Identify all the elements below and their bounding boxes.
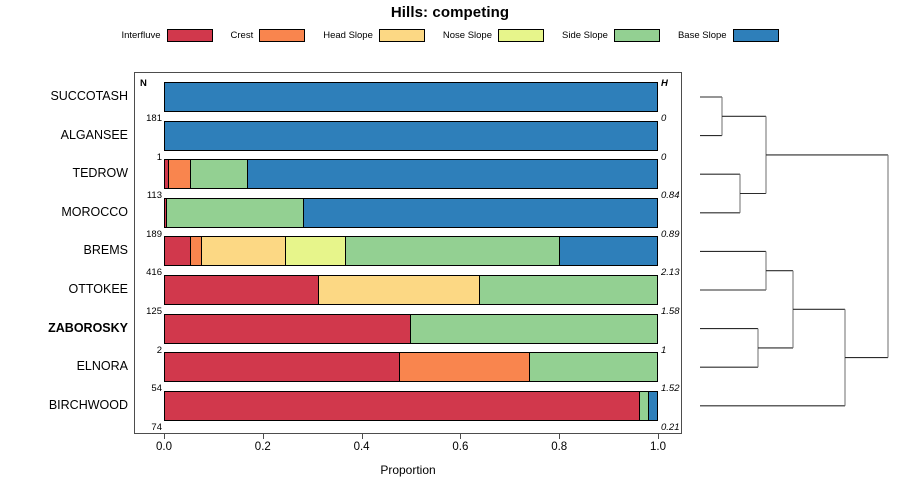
h-value: 0.84 — [661, 190, 691, 201]
stacked-bar — [164, 391, 658, 421]
stacked-bar-track — [164, 82, 658, 112]
legend-label: Interfluve — [121, 30, 160, 41]
n-value: 1 — [136, 152, 162, 163]
stacked-bar-track — [164, 314, 658, 344]
bar-segment — [165, 315, 411, 343]
stacked-bar — [164, 352, 658, 382]
y-axis-label: BREMS — [0, 244, 128, 257]
legend-swatch — [614, 29, 660, 42]
legend-item: Interfluve — [121, 29, 212, 42]
legend-swatch — [498, 29, 544, 42]
legend-label: Side Slope — [562, 30, 608, 41]
n-value: 416 — [136, 267, 162, 278]
stacked-bar — [164, 159, 658, 189]
x-axis-tick-label: 0.2 — [243, 441, 283, 453]
dendrogram — [690, 72, 900, 434]
y-axis-label: ZABOROSKY — [0, 322, 128, 335]
x-axis-tick-label: 0.0 — [144, 441, 184, 453]
bar-segment — [649, 392, 657, 420]
x-axis-tick — [362, 434, 363, 439]
bar-segment — [165, 122, 657, 150]
legend-swatch — [379, 29, 425, 42]
x-axis-tick-label: 0.6 — [440, 441, 480, 453]
n-value: 125 — [136, 306, 162, 317]
legend-item: Side Slope — [562, 29, 660, 42]
bar-segment — [319, 276, 480, 304]
stacked-bar-track — [164, 121, 658, 151]
n-column-header: N — [140, 78, 147, 89]
x-axis-tick-label: 1.0 — [638, 441, 678, 453]
h-value: 1 — [661, 345, 691, 356]
bar-segment — [346, 237, 560, 265]
h-column-header: H — [661, 78, 668, 89]
stacked-bar — [164, 275, 658, 305]
stacked-bar-track — [164, 391, 658, 421]
legend: InterfluveCrestHead SlopeNose SlopeSide … — [0, 26, 900, 44]
dendrogram-svg — [690, 72, 900, 434]
y-axis-label: SUCCOTASH — [0, 90, 128, 103]
bar-segment — [165, 392, 640, 420]
stacked-bar — [164, 198, 658, 228]
stacked-bar — [164, 82, 658, 112]
bar-segment — [248, 160, 657, 188]
y-axis-label: MOROCCO — [0, 206, 128, 219]
chart-root: Hills: competing InterfluveCrestHead Slo… — [0, 0, 900, 500]
h-value: 0.21 — [661, 422, 691, 433]
h-value: 0 — [661, 152, 691, 163]
bar-segment — [165, 276, 319, 304]
h-value: 0.89 — [661, 229, 691, 240]
chart-title: Hills: competing — [0, 4, 900, 21]
y-axis-label: TEDROW — [0, 167, 128, 180]
h-value: 1.52 — [661, 383, 691, 394]
bar-segment — [169, 160, 191, 188]
x-axis-title: Proportion — [134, 463, 682, 477]
n-value: 189 — [136, 229, 162, 240]
stacked-bar — [164, 314, 658, 344]
y-axis-label: ELNORA — [0, 360, 128, 373]
x-axis-tick — [559, 434, 560, 439]
n-value: 181 — [136, 113, 162, 124]
legend-label: Nose Slope — [443, 30, 492, 41]
stacked-bar-track — [164, 159, 658, 189]
bar-segment — [165, 353, 400, 381]
bar-segment — [165, 237, 191, 265]
legend-item: Head Slope — [323, 29, 425, 42]
n-value: 54 — [136, 383, 162, 394]
bar-segment — [640, 392, 648, 420]
bar-segment — [167, 199, 304, 227]
h-value: 0 — [661, 113, 691, 124]
bar-segment — [191, 160, 248, 188]
x-axis-tick-label: 0.4 — [342, 441, 382, 453]
bar-segment — [560, 237, 657, 265]
legend-swatch — [733, 29, 779, 42]
stacked-bar-track — [164, 352, 658, 382]
legend-item: Nose Slope — [443, 29, 544, 42]
legend-label: Head Slope — [323, 30, 373, 41]
x-axis-tick — [460, 434, 461, 439]
x-axis-tick — [164, 434, 165, 439]
bar-segment — [165, 83, 657, 111]
legend-item: Base Slope — [678, 29, 779, 42]
h-value: 2.13 — [661, 267, 691, 278]
n-value: 74 — [136, 422, 162, 433]
x-axis-tick — [658, 434, 659, 439]
bar-segment — [304, 199, 657, 227]
stacked-bar — [164, 236, 658, 266]
stacked-bar-track — [164, 198, 658, 228]
n-value: 113 — [136, 190, 162, 201]
stacked-bar — [164, 121, 658, 151]
h-value: 1.58 — [661, 306, 691, 317]
bar-segment — [400, 353, 529, 381]
bar-segment — [480, 276, 657, 304]
n-value: 2 — [136, 345, 162, 356]
y-axis-label: BIRCHWOOD — [0, 399, 128, 412]
x-axis-tick — [263, 434, 264, 439]
bar-segment — [191, 237, 202, 265]
bar-segment — [530, 353, 657, 381]
legend-swatch — [167, 29, 213, 42]
y-axis-label: ALGANSEE — [0, 129, 128, 142]
x-axis-tick-label: 0.8 — [539, 441, 579, 453]
y-axis-label: OTTOKEE — [0, 283, 128, 296]
stacked-bar-track — [164, 236, 658, 266]
legend-label: Base Slope — [678, 30, 727, 41]
legend-item: Crest — [231, 29, 306, 42]
stacked-bar-track — [164, 275, 658, 305]
legend-label: Crest — [231, 30, 254, 41]
legend-swatch — [259, 29, 305, 42]
bar-segment — [411, 315, 657, 343]
bar-segment — [286, 237, 346, 265]
bar-segment — [202, 237, 286, 265]
